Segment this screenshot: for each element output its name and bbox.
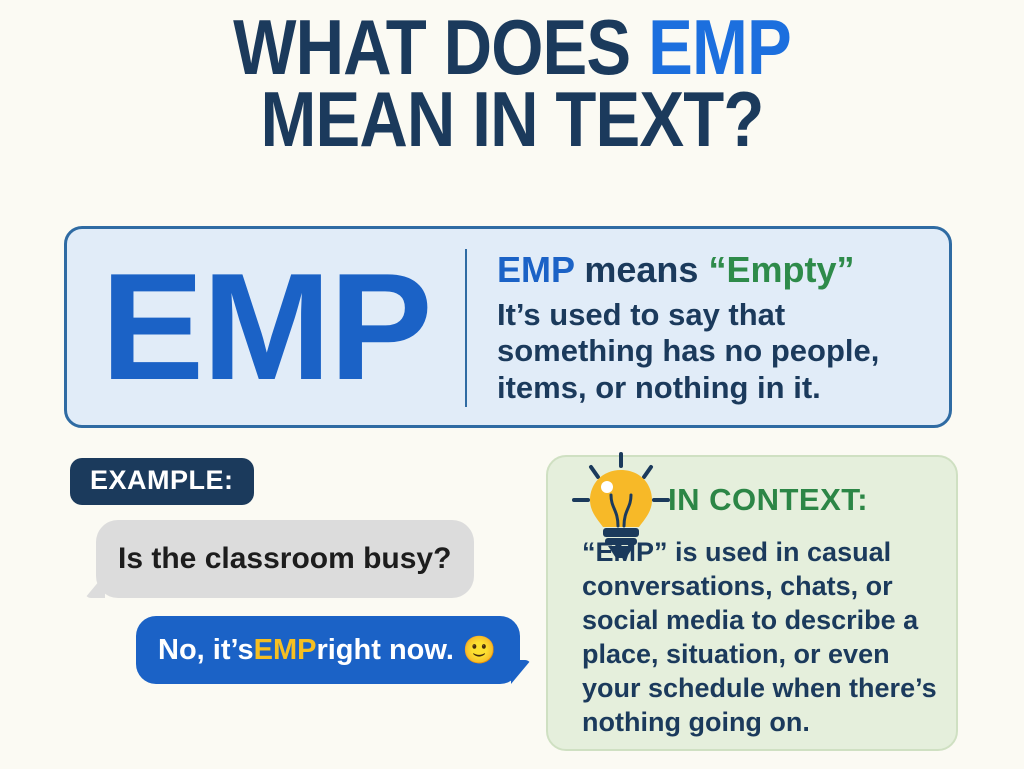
definition-acronym-panel: EMP: [67, 229, 465, 425]
in-context-body: “EMP” is used in casual conversations, c…: [582, 535, 942, 739]
smiley-face-icon: 🙂: [463, 637, 497, 664]
in-context-card: IN CONTEXT: “EMP” is used in casual conv…: [546, 455, 958, 751]
definition-text-panel: EMP means “Empty” It’s used to say that …: [467, 229, 949, 425]
definition-body: It’s used to say that something has no p…: [497, 297, 931, 407]
in-context-heading: IN CONTEXT:: [668, 482, 868, 518]
page-title: WHAT DOES EMP MEAN IN TEXT?: [0, 12, 1024, 156]
chat-bubble-outgoing-suffix: right now.: [316, 634, 453, 667]
definition-headline: EMP means “Empty”: [497, 251, 931, 289]
chat-bubble-incoming-text: Is the classroom busy?: [118, 542, 451, 576]
infographic-canvas: WHAT DOES EMP MEAN IN TEXT? EMP EMP mean…: [0, 0, 1024, 769]
example-badge: EXAMPLE:: [70, 458, 254, 505]
definition-card: EMP EMP means “Empty” It’s used to say t…: [64, 226, 952, 428]
chat-bubble-outgoing-prefix: No, it’s: [158, 634, 254, 667]
title-line-1: WHAT DOES EMP: [72, 12, 953, 84]
chat-bubble-highlight-emp: EMP: [254, 634, 317, 667]
headline-term: EMP: [497, 249, 574, 290]
chat-bubble-outgoing: No, it’s EMP right now.🙂: [136, 616, 520, 684]
bubble-tail-left: [85, 574, 105, 598]
acronym-emp: EMP: [101, 251, 431, 403]
chat-bubble-incoming: Is the classroom busy?: [96, 520, 474, 598]
headline-verb: means: [574, 249, 708, 290]
title-line-2: MEAN IN TEXT?: [72, 84, 953, 156]
bubble-tail-right: [511, 660, 531, 684]
headline-meaning: “Empty”: [708, 249, 854, 290]
